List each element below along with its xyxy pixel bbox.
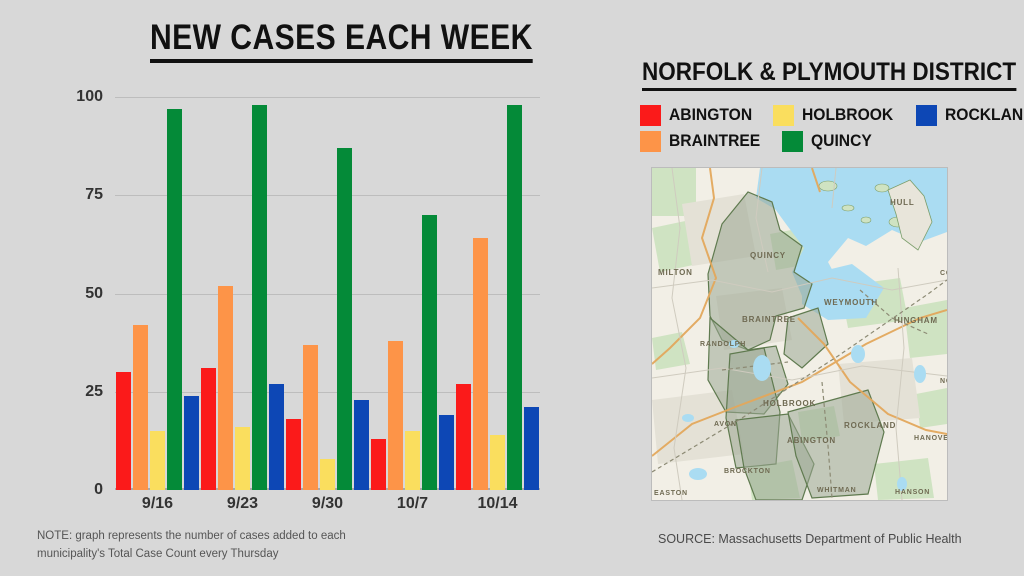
map-place-label: CO [940,270,947,277]
bar-group [201,97,284,490]
x-axis-tick-label: 9/23 [200,495,285,525]
district-map: QUINCYMILTONWEYMOUTHHINGHAMHULLBRAINTREE… [652,168,947,500]
bar-abington-9-16[interactable] [116,372,131,490]
bar-abington-9-23[interactable] [201,368,216,490]
chart-title: NEW CASES EACH WEEK [150,20,533,63]
bar-holbrook-10-14[interactable] [490,435,505,490]
y-axis-ticks: 0255075100 [0,97,115,490]
chart-plot-wrapper: 0255075100 9/169/239/3010/710/14 [0,85,600,505]
legend-row: ABINGTONHOLBROOKROCKLAND [640,104,1020,126]
bar-braintree-9-16[interactable] [133,325,148,490]
bar-group [286,97,369,490]
legend-row: BRAINTREEQUINCY [640,130,1020,152]
map-place-label: MILTON [658,268,693,277]
plot-area [115,97,540,490]
legend-swatch-icon [782,131,803,152]
x-axis-tick-label: 9/30 [285,495,370,525]
bar-rockland-9-16[interactable] [184,396,199,490]
map-place-label: HOLBROOK [763,399,816,408]
bar-braintree-9-30[interactable] [303,345,318,490]
bar-group [456,97,539,490]
chart-note: NOTE: graph represents the number of cas… [37,528,367,564]
map-place-label: QUINCY [750,251,786,260]
bar-holbrook-9-23[interactable] [235,427,250,490]
district-panel: NORFOLK & PLYMOUTH DISTRICT ABINGTONHOLB… [600,0,1024,576]
bar-abington-9-30[interactable] [286,419,301,490]
bar-braintree-10-14[interactable] [473,238,488,490]
legend-label: BRAINTREE [669,131,760,151]
map-place-label: BROCKTON [724,468,771,475]
bar-rockland-10-7[interactable] [439,415,454,490]
legend-swatch-icon [773,105,794,126]
slide-root: NEW CASES EACH WEEK 0255075100 9/169/239… [0,0,1024,576]
legend-label: ROCKLAND [945,105,1024,125]
legend-item-quincy[interactable]: QUINCY [782,131,877,152]
bar-rockland-9-30[interactable] [354,400,369,490]
x-axis-tick-label: 10/14 [455,495,540,525]
legend-swatch-icon [640,131,661,152]
x-axis-labels: 9/169/239/3010/710/14 [115,495,540,525]
bar-holbrook-9-30[interactable] [320,459,335,490]
map-legend: ABINGTONHOLBROOKROCKLANDBRAINTREEQUINCY [640,104,1020,156]
district-title: NORFOLK & PLYMOUTH DISTRICT [642,58,1016,91]
map-place-label: ROCKLAND [844,421,896,430]
map-place-label: ABINGTON [787,436,836,445]
map-source: SOURCE: Massachusetts Department of Publ… [658,532,962,546]
y-axis-tick-label: 75 [33,186,103,204]
bar-rockland-9-23[interactable] [269,384,284,490]
map-place-label: AVON [714,421,737,428]
map-graphic: QUINCYMILTONWEYMOUTHHINGHAMHULLBRAINTREE… [652,168,947,500]
y-axis-tick-label: 0 [33,481,103,499]
bar-groups [115,97,540,490]
x-axis-tick-label: 10/7 [370,495,455,525]
map-place-label: BRAINTREE [742,315,796,324]
map-place-label: HULL [890,198,915,207]
map-place-label: RANDOLPH [700,341,746,348]
legend-item-rockland[interactable]: ROCKLAND [916,105,1024,126]
legend-label: ABINGTON [669,105,752,125]
bar-rockland-10-14[interactable] [524,407,539,490]
chart-panel: NEW CASES EACH WEEK 0255075100 9/169/239… [0,0,600,576]
legend-swatch-icon [916,105,937,126]
y-axis-tick-label: 25 [33,383,103,401]
bar-abington-10-14[interactable] [456,384,471,490]
bar-quincy-9-30[interactable] [337,148,352,490]
legend-swatch-icon [640,105,661,126]
bar-braintree-10-7[interactable] [388,341,403,490]
map-place-label: WHITMAN [817,487,856,494]
bar-quincy-9-23[interactable] [252,105,267,490]
legend-item-abington[interactable]: ABINGTON [640,105,759,126]
bar-quincy-9-16[interactable] [167,109,182,490]
map-place-label: WEYMOUTH [824,298,878,307]
legend-label: HOLBROOK [802,105,893,125]
map-place-label: HANOVER [914,435,947,442]
bar-quincy-10-14[interactable] [507,105,522,490]
legend-label: QUINCY [811,131,872,151]
bar-braintree-9-23[interactable] [218,286,233,490]
legend-item-holbrook[interactable]: HOLBROOK [773,105,901,126]
map-place-label: HANSON [895,489,930,496]
map-place-label: HINGHAM [894,316,938,325]
map-place-label: NO [940,378,947,385]
y-axis-tick-label: 100 [33,88,103,106]
legend-item-braintree[interactable]: BRAINTREE [640,131,768,152]
bar-group [116,97,199,490]
bar-group [371,97,454,490]
bar-holbrook-9-16[interactable] [150,431,165,490]
map-place-label: EASTON [654,490,688,497]
x-axis-tick-label: 9/16 [115,495,200,525]
bar-abington-10-7[interactable] [371,439,386,490]
bar-holbrook-10-7[interactable] [405,431,420,490]
y-axis-tick-label: 50 [33,285,103,303]
bar-quincy-10-7[interactable] [422,215,437,490]
